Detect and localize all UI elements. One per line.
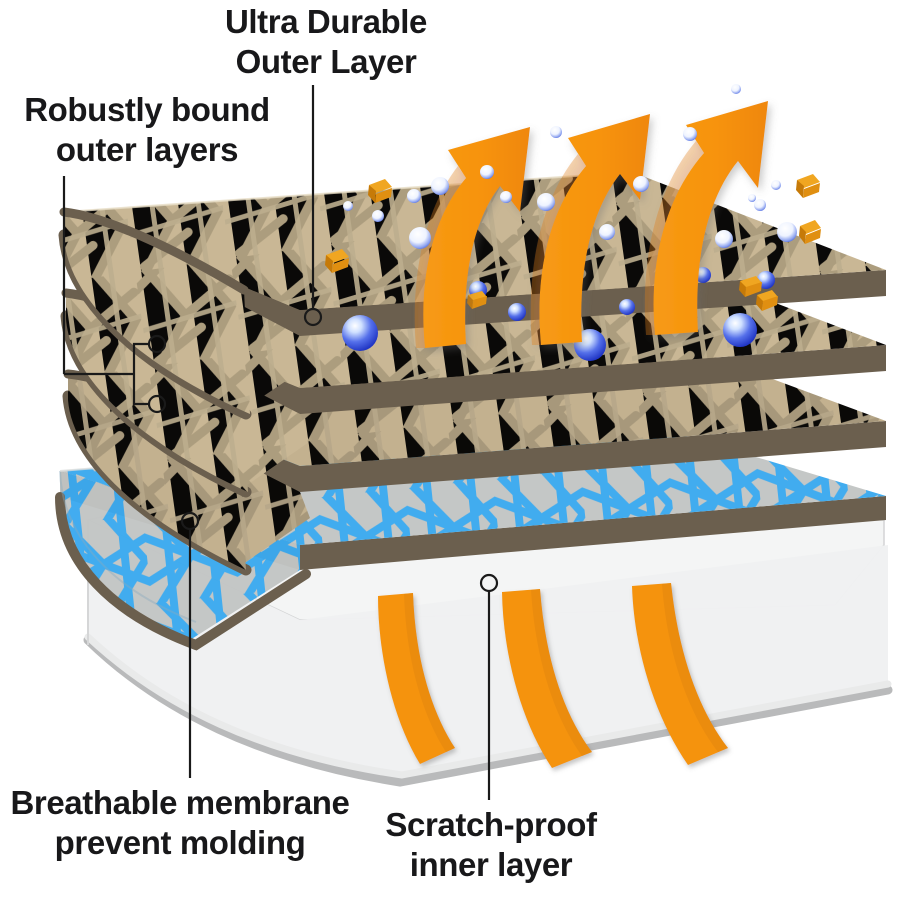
label-line-1: Robustly bound	[24, 91, 270, 128]
infographic-page: Ultra DurableOuter Layer Robustly boundo…	[0, 0, 916, 902]
label-line-2: outer layers	[56, 131, 238, 168]
breathable-membrane-label: Breathable membraneprevent molding	[4, 783, 356, 864]
label-line-2: Outer Layer	[236, 43, 417, 80]
label-line-1: Ultra Durable	[225, 3, 427, 40]
label-line-1: Breathable membrane	[10, 784, 349, 821]
ultra-durable-outer-layer-label: Ultra DurableOuter Layer	[192, 2, 460, 83]
scratch-proof-inner-layer-label: Scratch-proofinner layer	[372, 805, 610, 886]
label-line-1: Scratch-proof	[385, 806, 596, 843]
label-line-2: inner layer	[410, 846, 573, 883]
dirt-particle-cube	[796, 174, 820, 198]
robustly-bound-outer-layers-label: Robustly boundouter layers	[6, 90, 288, 171]
label-line-2: prevent molding	[55, 824, 306, 861]
